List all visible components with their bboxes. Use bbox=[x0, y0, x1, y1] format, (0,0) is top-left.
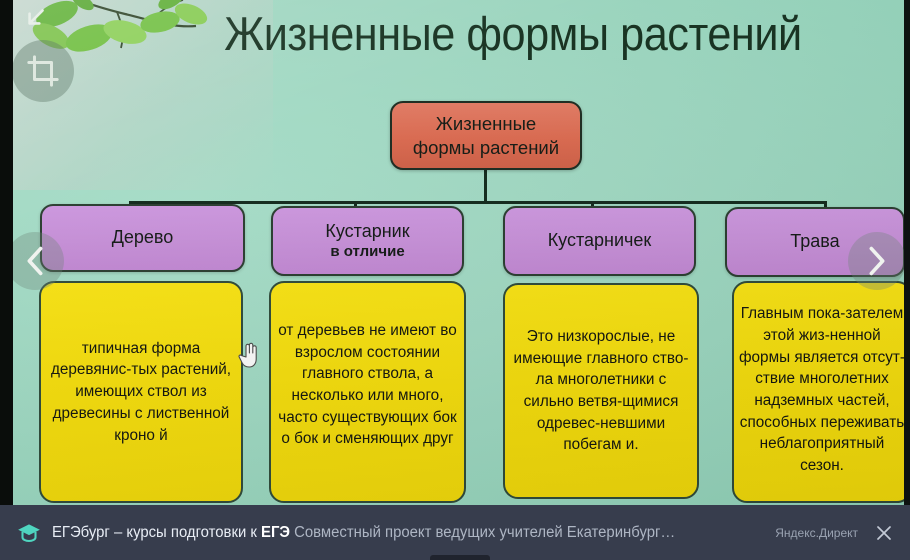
arrow-down-left-icon[interactable] bbox=[22, 5, 48, 31]
ad-banner[interactable]: ЕГЭбург – курсы подготовки к ЕГЭ Совмест… bbox=[0, 505, 910, 560]
node-description-derevo: типичная форма деревянис-тых растений, и… bbox=[39, 281, 243, 503]
device-bezel-left bbox=[0, 0, 13, 505]
node-description-text: типичная форма деревянис-тых растений, и… bbox=[41, 338, 241, 447]
ad-source-label[interactable]: Яндекс.Директ bbox=[775, 526, 858, 540]
node-description-kustarnik: от деревьев не имеют во взрослом состоян… bbox=[269, 281, 466, 503]
node-description-text: Главным пока-зателем этой жиз-ненной фор… bbox=[734, 303, 904, 477]
crop-button[interactable] bbox=[12, 40, 74, 102]
node-description-kustarnichek: Это низкорослые, не имеющие главного ств… bbox=[503, 283, 699, 499]
graduation-cap-icon bbox=[16, 520, 42, 546]
node-root-line1: Жизненные bbox=[436, 112, 536, 136]
prev-slide-button[interactable] bbox=[6, 232, 64, 290]
ad-description: Совместный проект ведущих учителей Екате… bbox=[290, 524, 675, 541]
crop-icon bbox=[26, 54, 60, 88]
node-category-label: Дерево bbox=[112, 227, 174, 249]
node-root-line2: формы растений bbox=[413, 136, 559, 160]
node-description-text: Это низкорослые, не имеющие главного ств… bbox=[505, 326, 697, 456]
node-category-label: Кустарник bbox=[325, 221, 409, 243]
node-description-text: от деревьев не имеют во взрослом состоян… bbox=[271, 320, 464, 450]
screenshot-root: Жизненные формы растений Жизненные формы… bbox=[0, 0, 910, 560]
node-category-label: Кустарничек bbox=[548, 230, 652, 252]
chevron-right-icon bbox=[863, 244, 891, 278]
node-category-label: Трава bbox=[790, 231, 839, 253]
next-slide-button[interactable] bbox=[848, 232, 906, 290]
ad-title-bold: ЕГЭ bbox=[261, 524, 290, 541]
chevron-left-icon bbox=[21, 244, 49, 278]
ad-title-part1: ЕГЭбург – курсы подготовки к bbox=[52, 524, 261, 541]
node-category-kustarnik: Кустарник в отличие bbox=[271, 206, 464, 276]
presentation-slide: Жизненные формы растений Жизненные формы… bbox=[13, 0, 904, 505]
ad-text[interactable]: ЕГЭбург – курсы подготовки к ЕГЭ Совмест… bbox=[52, 524, 741, 542]
close-icon[interactable] bbox=[874, 523, 894, 543]
connector-root-stem bbox=[484, 170, 487, 203]
node-root: Жизненные формы растений bbox=[390, 101, 582, 170]
device-bezel-right bbox=[904, 0, 910, 505]
node-category-derevo: Дерево bbox=[40, 204, 245, 272]
node-category-kustarnichek: Кустарничек bbox=[503, 206, 696, 276]
node-description-trava: Главным пока-зателем этой жиз-ненной фор… bbox=[732, 281, 904, 503]
hand-pointer-cursor bbox=[238, 339, 260, 369]
ad-banner-notch bbox=[430, 555, 490, 560]
slide-title: Жизненные формы растений bbox=[191, 6, 835, 61]
node-category-sublabel: в отличие bbox=[330, 243, 404, 261]
